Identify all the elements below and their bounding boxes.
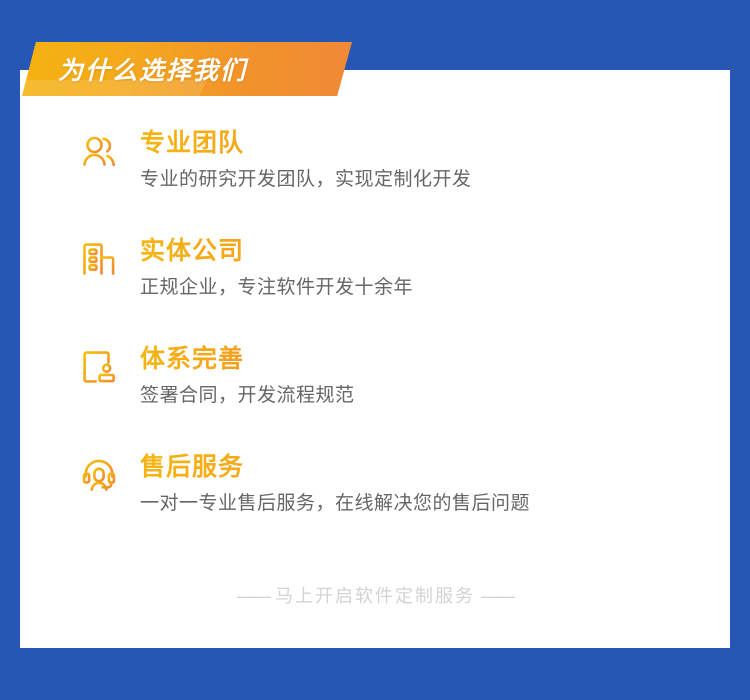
feature-item-support[interactable]: 售后服务 一对一专业售后服务，在线解决您的售后问题 — [20, 452, 730, 536]
tagline-left-dash: —— — [231, 586, 275, 606]
feature-desc: 一对一专业售后服务，在线解决您的售后问题 — [140, 492, 530, 516]
building-icon — [78, 238, 120, 280]
headset-support-icon — [78, 454, 120, 496]
feature-text-company: 实体公司 正规企业，专注软件开发十余年 — [140, 236, 413, 300]
feature-desc: 正规企业，专注软件开发十余年 — [140, 276, 413, 300]
contract-stamp-icon — [78, 346, 120, 388]
feature-text-system: 体系完善 签署合同，开发流程规范 — [140, 344, 355, 408]
ribbon-title: 为什么选择我们 — [58, 51, 247, 87]
section-ribbon: 为什么选择我们 — [22, 42, 352, 96]
feature-title: 专业团队 — [140, 128, 472, 158]
feature-item-company[interactable]: 实体公司 正规企业，专注软件开发十余年 — [20, 236, 730, 320]
feature-item-system[interactable]: 体系完善 签署合同，开发流程规范 — [20, 344, 730, 428]
feature-item-team[interactable]: 专业团队 专业的研究开发团队，实现定制化开发 — [20, 128, 730, 212]
feature-title: 实体公司 — [140, 236, 413, 266]
feature-title: 体系完善 — [140, 344, 355, 374]
feature-desc: 签署合同，开发流程规范 — [140, 384, 355, 408]
feature-list: 专业团队 专业的研究开发团队，实现定制化开发 — [20, 128, 730, 560]
feature-title: 售后服务 — [140, 452, 530, 482]
feature-desc: 专业的研究开发团队，实现定制化开发 — [140, 168, 472, 192]
feature-text-team: 专业团队 专业的研究开发团队，实现定制化开发 — [140, 128, 472, 192]
feature-text-support: 售后服务 一对一专业售后服务，在线解决您的售后问题 — [140, 452, 530, 516]
tagline-right-dash: —— — [475, 586, 519, 606]
tagline-text: 马上开启软件定制服务 — [275, 586, 475, 606]
footer-tagline: ——马上开启软件定制服务—— — [20, 582, 730, 608]
content-card: 专业团队 专业的研究开发团队，实现定制化开发 — [20, 70, 730, 648]
poster-root: 专业团队 专业的研究开发团队，实现定制化开发 — [0, 0, 750, 700]
team-icon — [78, 130, 120, 172]
